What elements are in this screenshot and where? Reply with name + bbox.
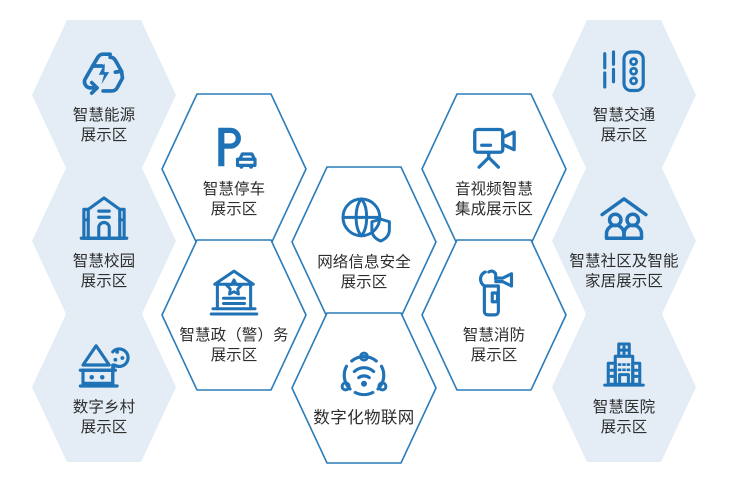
hex-label-network-security: 网络信息安全 展示区 xyxy=(317,252,411,293)
hex-label-digital-village: 数字乡村 展示区 xyxy=(73,397,135,438)
recycle-energy-icon xyxy=(76,45,132,101)
hex-label-smart-firefighting: 智慧消防 展示区 xyxy=(463,325,525,366)
hex-cell-smart-firefighting[interactable]: 智慧消防 展示区 xyxy=(420,238,568,392)
hex-cell-digital-iot[interactable]: 数字化物联网 xyxy=(290,311,438,465)
hex-label-smart-traffic: 智慧交通 展示区 xyxy=(593,105,655,146)
globe-shield-icon xyxy=(336,192,392,248)
hex-cell-av-integration[interactable]: 音视频智慧 集成展示区 xyxy=(420,92,568,246)
hex-cell-digital-village[interactable]: 数字乡村 展示区 xyxy=(30,310,178,464)
video-camera-icon xyxy=(466,119,522,175)
hex-label-smart-government: 智慧政（警）务 展示区 xyxy=(179,325,288,366)
hospital-icon xyxy=(596,337,652,393)
hex-label-digital-iot: 数字化物联网 xyxy=(313,407,414,429)
hex-label-smart-campus: 智慧校园 展示区 xyxy=(73,251,135,292)
hex-cell-smart-energy[interactable]: 智慧能源 展示区 xyxy=(30,18,178,172)
hex-label-smart-parking: 智慧停车 展示区 xyxy=(203,179,265,220)
hex-cell-network-security[interactable]: 网络信息安全 展示区 xyxy=(290,165,438,319)
traffic-light-icon xyxy=(596,45,652,101)
hex-cell-smart-hospital[interactable]: 智慧医院 展示区 xyxy=(550,310,698,464)
hex-cell-smart-community[interactable]: 智慧社区及智能 家居展示区 xyxy=(550,164,698,318)
hex-label-av-integration: 音视频智慧 集成展示区 xyxy=(455,179,533,220)
hex-cell-smart-parking[interactable]: 智慧停车 展示区 xyxy=(160,92,308,246)
parking-car-icon xyxy=(206,119,262,175)
hex-label-smart-energy: 智慧能源 展示区 xyxy=(73,105,135,146)
hex-cell-smart-campus[interactable]: 智慧校园 展示区 xyxy=(30,164,178,318)
government-star-icon xyxy=(206,265,262,321)
school-building-icon xyxy=(76,191,132,247)
iot-wifi-icon xyxy=(336,347,392,403)
hex-cell-smart-government[interactable]: 智慧政（警）务 展示区 xyxy=(160,238,308,392)
village-house-icon xyxy=(76,337,132,393)
honeycomb-infographic: 智慧能源 展示区 智慧停车 展示区 智慧校园 展示区 网络信息安全 展示区 xyxy=(0,0,737,484)
hex-cell-smart-traffic[interactable]: 智慧交通 展示区 xyxy=(550,18,698,172)
hex-label-smart-hospital: 智慧医院 展示区 xyxy=(593,397,655,438)
community-people-icon xyxy=(596,191,652,247)
hex-label-smart-community: 智慧社区及智能 家居展示区 xyxy=(569,251,678,292)
fire-extinguisher-icon xyxy=(466,265,522,321)
